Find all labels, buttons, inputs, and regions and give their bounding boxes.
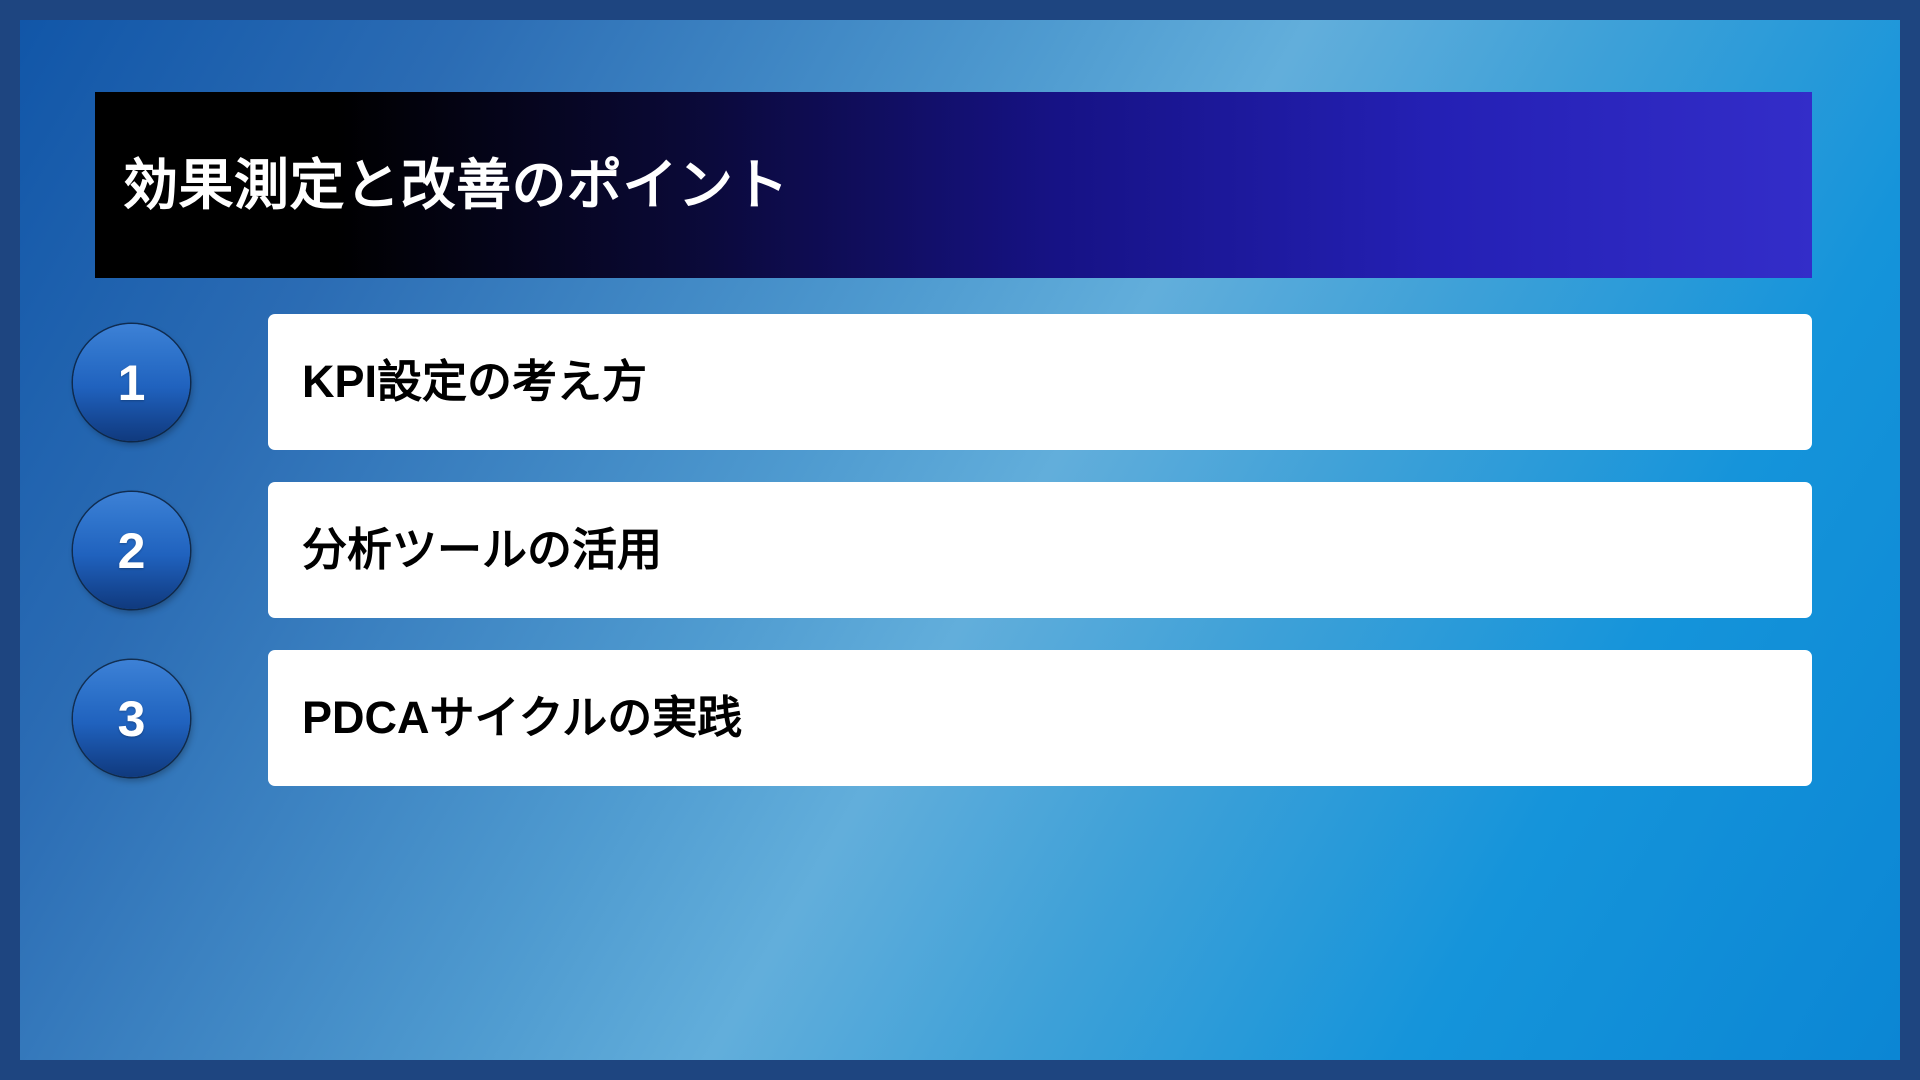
- title-banner: 効果測定と改善のポイント: [95, 92, 1812, 278]
- list-item[interactable]: 2 分析ツールの活用: [20, 472, 1900, 628]
- number-badge-label: 3: [118, 694, 146, 744]
- number-badge-1: 1: [73, 324, 190, 441]
- item-card-1[interactable]: KPI設定の考え方: [268, 314, 1812, 450]
- number-badge-2: 2: [73, 492, 190, 609]
- slide-frame: 効果測定と改善のポイント 1 KPI設定の考え方 2 分析ツールの活用: [0, 0, 1920, 1080]
- list-item[interactable]: 3 PDCAサイクルの実践: [20, 640, 1900, 796]
- number-badge-3: 3: [73, 660, 190, 777]
- slide-title: 効果測定と改善のポイント: [95, 155, 789, 216]
- item-card-label: KPI設定の考え方: [268, 355, 647, 409]
- item-card-3[interactable]: PDCAサイクルの実践: [268, 650, 1812, 786]
- slide-background: 効果測定と改善のポイント 1 KPI設定の考え方 2 分析ツールの活用: [20, 20, 1900, 1060]
- numbered-item-list: 1 KPI設定の考え方 2 分析ツールの活用 3 PDCAサ: [20, 304, 1900, 808]
- item-card-2[interactable]: 分析ツールの活用: [268, 482, 1812, 618]
- item-card-label: 分析ツールの活用: [268, 523, 662, 577]
- list-item[interactable]: 1 KPI設定の考え方: [20, 304, 1900, 460]
- item-card-label: PDCAサイクルの実践: [268, 691, 742, 745]
- number-badge-label: 2: [118, 526, 146, 576]
- number-badge-label: 1: [118, 358, 146, 408]
